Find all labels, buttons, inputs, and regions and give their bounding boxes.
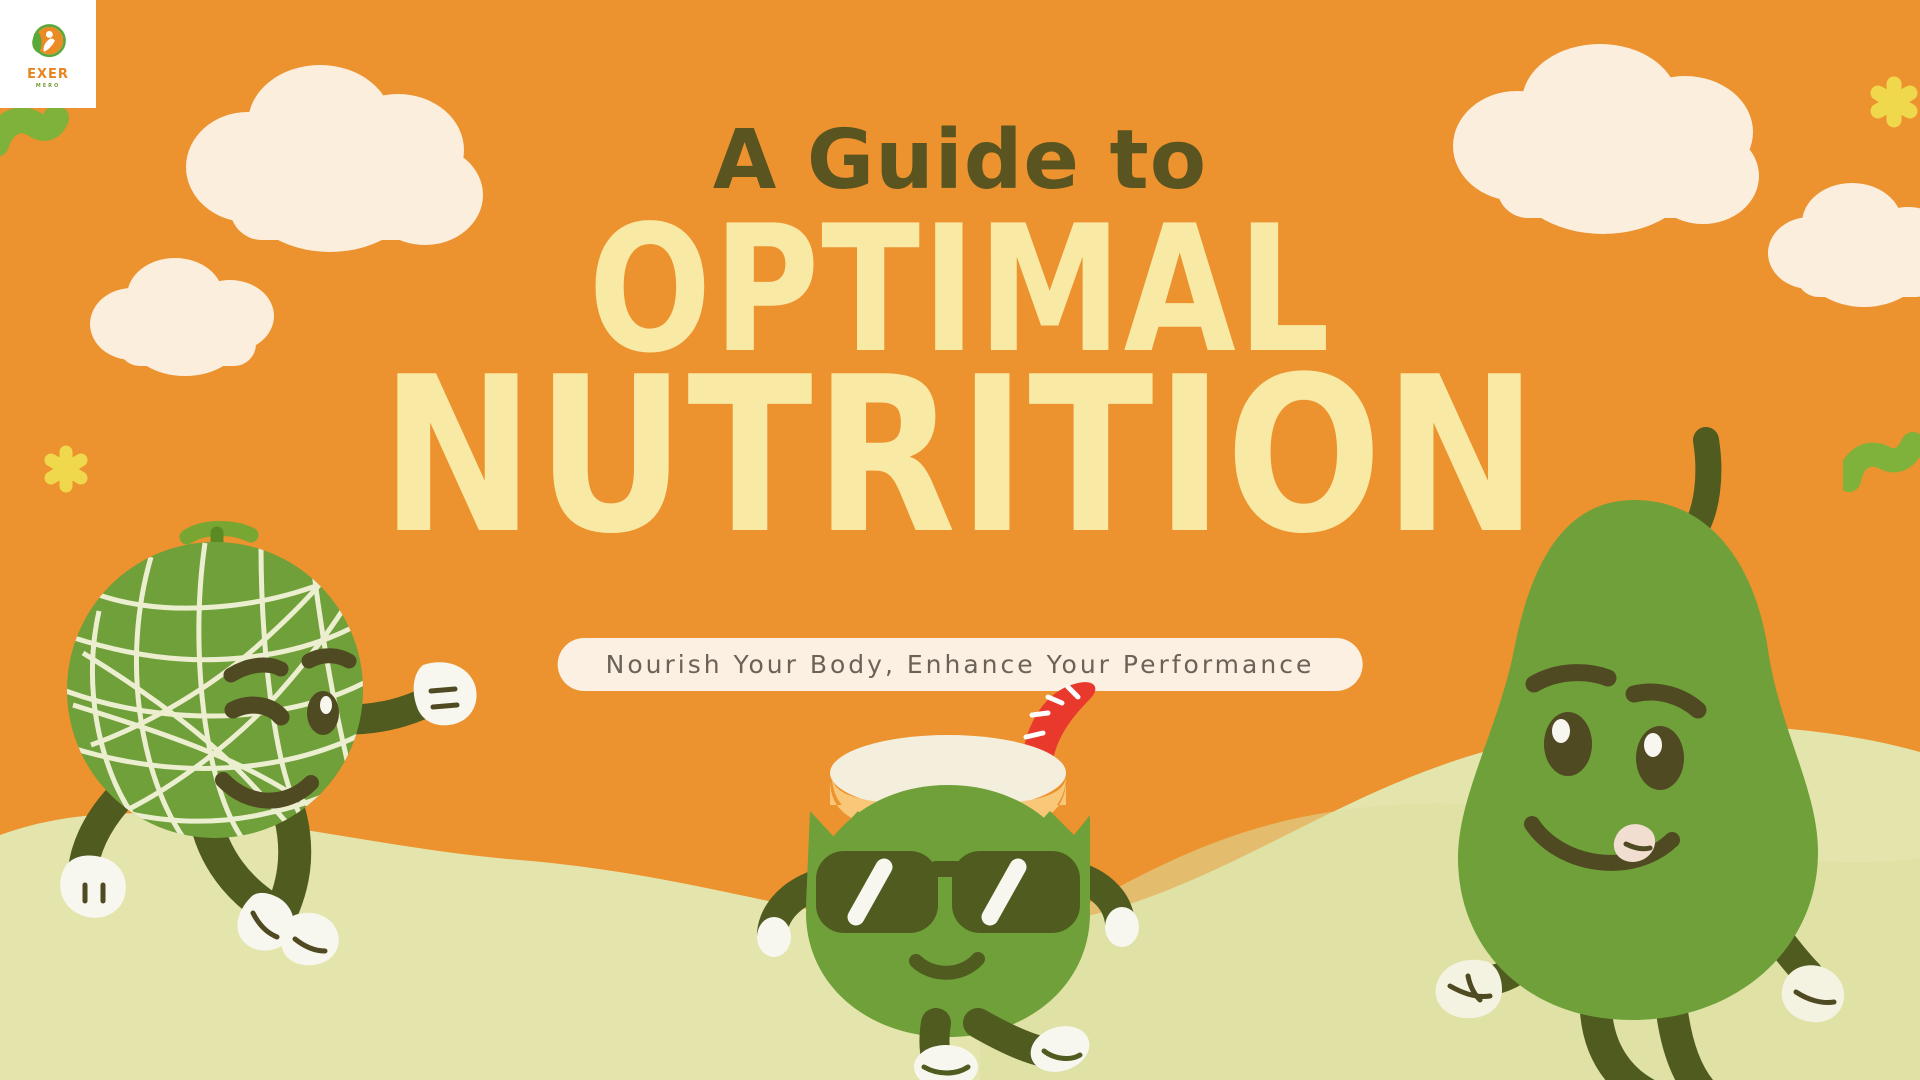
coconut-left-hand — [757, 917, 791, 957]
brand-logo-box[interactable]: EXER MERO — [0, 0, 96, 108]
pear-right-eye — [1636, 726, 1684, 790]
poster-canvas: A Guide to OPTIMAL NUTRITION Nourish You… — [0, 0, 1920, 1080]
melon-right-glove — [414, 662, 477, 725]
pear-left-eye — [1544, 712, 1592, 776]
pear-stem — [1696, 440, 1708, 528]
melon-eye-glint — [320, 696, 332, 714]
melon-left-glove — [60, 855, 126, 917]
leaf-person-circle-icon — [26, 20, 70, 64]
pear-left-eye-glint — [1552, 719, 1570, 743]
pear-left-glove — [1436, 960, 1502, 1018]
melon-right-brow — [309, 656, 349, 661]
pear-right-eye-glint — [1644, 733, 1662, 757]
melon-right-leg — [280, 815, 295, 915]
coconut-character — [760, 655, 1180, 1080]
logo-subtext: MERO — [36, 84, 61, 89]
pear-right-glove — [1782, 965, 1844, 1022]
melon-character — [55, 515, 495, 985]
pear-character — [1420, 400, 1850, 1030]
coconut-right-shoe — [1025, 1019, 1096, 1079]
melon-right-shoe — [281, 913, 339, 966]
coconut-right-hand — [1105, 907, 1139, 947]
logo-wordmark: EXER — [27, 68, 69, 81]
